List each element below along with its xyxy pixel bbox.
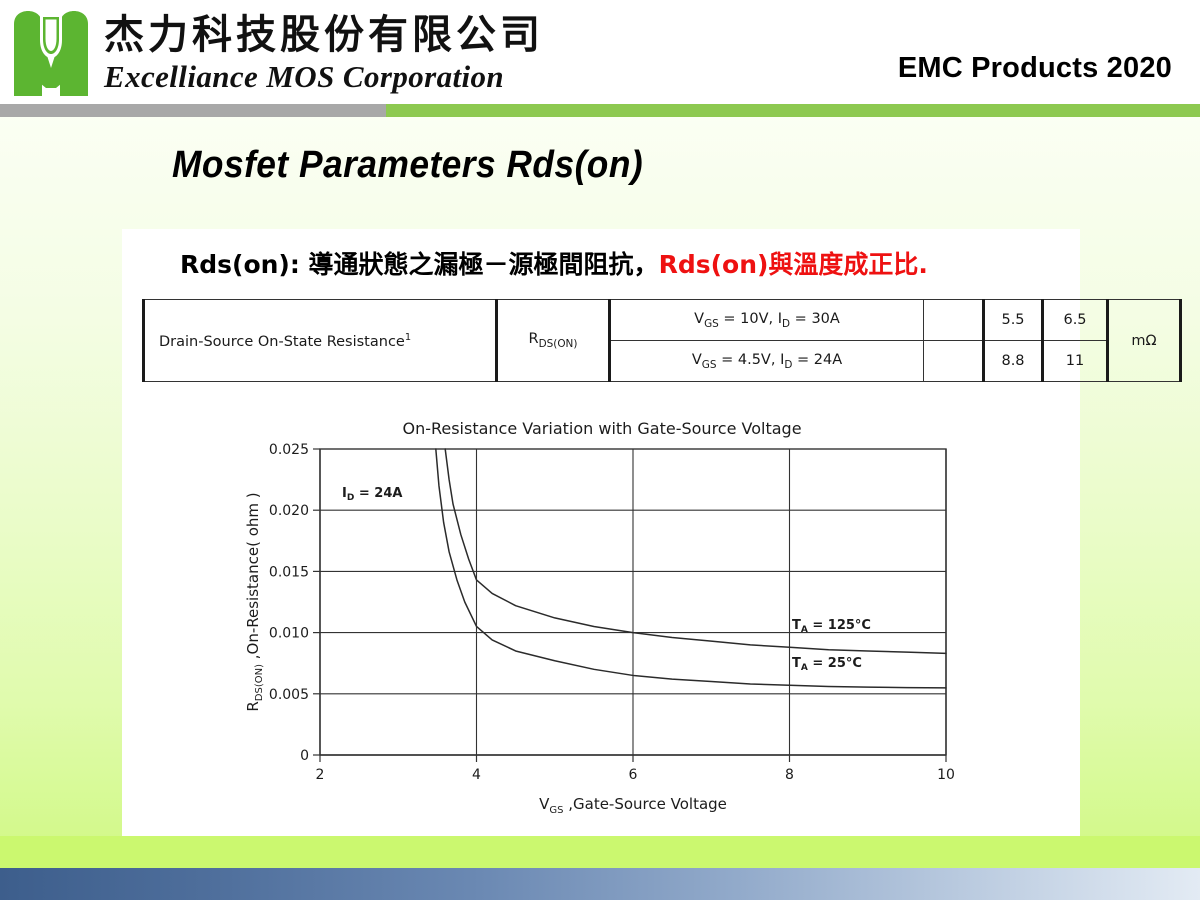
annotation-rest: = 24A [354,486,402,501]
cond-text-b: = 24A [792,352,842,368]
chart-ytick-label: 0.020 [269,503,309,519]
cell-condition-row2: VGS = 4.5V, ID = 24A [610,341,924,382]
cond-text-a: = 10V, I [719,311,782,327]
header-divider-gray [0,104,386,117]
footer-blue-band [0,868,1200,900]
caption-red-text: Rds(on)與溫度成正比. [659,250,928,279]
series-label-main: T [792,656,801,671]
chart-xtick-label: 10 [937,767,955,783]
x-axis-label-sub: GS [549,805,563,816]
chart-ytick-label: 0 [300,748,309,764]
cell-condition-row1: VGS = 10V, ID = 30A [610,300,924,341]
caption-black-text: Rds(on): 導通狀態之漏極－源極間阻抗， [180,250,659,279]
chart-annotation-id: ID = 24A [342,486,402,503]
y-axis-label-rest: ,On-Resistance( ohm ) [244,492,262,664]
chart-xtick-label: 8 [785,767,794,783]
cell-max-row2: 11 [1043,341,1108,382]
brand-name-english: Excelliance MOS Corporation [104,58,544,96]
chart-series-label-1: TA = 25°C [792,656,862,673]
cell-max-row1: 6.5 [1043,300,1108,341]
cond-text-b: = 30A [790,311,840,327]
cell-typ-row1: 5.5 [984,300,1043,341]
cond-v-sub: GS [704,317,719,329]
symbol-sub: DS(ON) [539,338,578,350]
series-label-sub: A [801,663,808,673]
content-panel: Rds(on): 導通狀態之漏極－源極間阻抗，Rds(on)與溫度成正比. Dr… [122,229,1080,836]
cond-i-sub: D [782,317,790,329]
annotation-sub: D [347,493,354,503]
parameter-footnote-marker: 1 [405,332,411,343]
series-label-sub: A [801,625,808,635]
cond-text-a: = 4.5V, I [717,352,785,368]
cell-symbol: RDS(ON) [497,300,610,382]
page-title: Mosfet Parameters Rds(on) [172,144,643,187]
chart-ytick-label: 0.005 [269,687,309,703]
y-axis-label-main: R [244,701,262,711]
cell-min-row2 [924,341,984,382]
cond-v-sub: GS [702,358,717,370]
on-resistance-chart: On-Resistance Variation with Gate-Source… [232,419,972,819]
header-divider-green [386,104,1200,117]
parameter-label: Drain-Source On-State Resistance [159,333,405,349]
chart-xtick-label: 4 [472,767,481,783]
series-label-rest: = 125°C [808,618,871,633]
cond-v-main: V [692,352,702,368]
footer-green-band [0,836,1200,868]
slide-canvas: 杰力科技股份有限公司 Excelliance MOS Corporation E… [0,0,1200,900]
series-label-main: T [792,618,801,633]
chart-x-axis-label: VGS ,Gate-Source Voltage [539,795,727,816]
chart-xtick-label: 2 [316,767,325,783]
cell-unit: mΩ [1108,300,1181,382]
chart-ytick-label: 0.010 [269,626,309,642]
chart-series-line-1 [436,449,946,688]
chart-title: On-Resistance Variation with Gate-Source… [232,419,972,438]
header-right-title: EMC Products 2020 [898,52,1172,85]
cell-parameter-name: Drain-Source On-State Resistance1 [144,300,497,382]
cell-typ-row2: 8.8 [984,341,1043,382]
y-axis-label-sub: DS(ON) [254,664,265,701]
slide-header: 杰力科技股份有限公司 Excelliance MOS Corporation E… [0,0,1200,110]
symbol-main: R [529,331,539,347]
cell-min-row1 [924,300,984,341]
chart-xtick-label: 6 [629,767,638,783]
chart-ytick-label: 0.015 [269,564,309,580]
x-axis-label-rest: ,Gate-Source Voltage [563,795,726,813]
chart-series-label-0: TA = 125°C [792,618,871,635]
table-row: Drain-Source On-State Resistance1 RDS(ON… [144,300,1181,341]
cond-v-main: V [694,311,704,327]
rds-on-caption: Rds(on): 導通狀態之漏極－源極間阻抗，Rds(on)與溫度成正比. [180,245,928,281]
chart-y-axis-label: RDS(ON) ,On-Resistance( ohm ) [244,492,265,711]
brand-block: 杰力科技股份有限公司 Excelliance MOS Corporation [104,12,544,96]
chart-plot-svg: 00.0050.0100.0150.0200.025246810RDS(ON) … [232,437,972,817]
series-label-rest: = 25°C [808,656,862,671]
chart-ytick-label: 0.025 [269,442,309,458]
brand-name-chinese: 杰力科技股份有限公司 [104,12,544,58]
rds-on-spec-table: Drain-Source On-State Resistance1 RDS(ON… [142,299,1182,382]
excelliance-mos-logo-icon [12,10,90,98]
